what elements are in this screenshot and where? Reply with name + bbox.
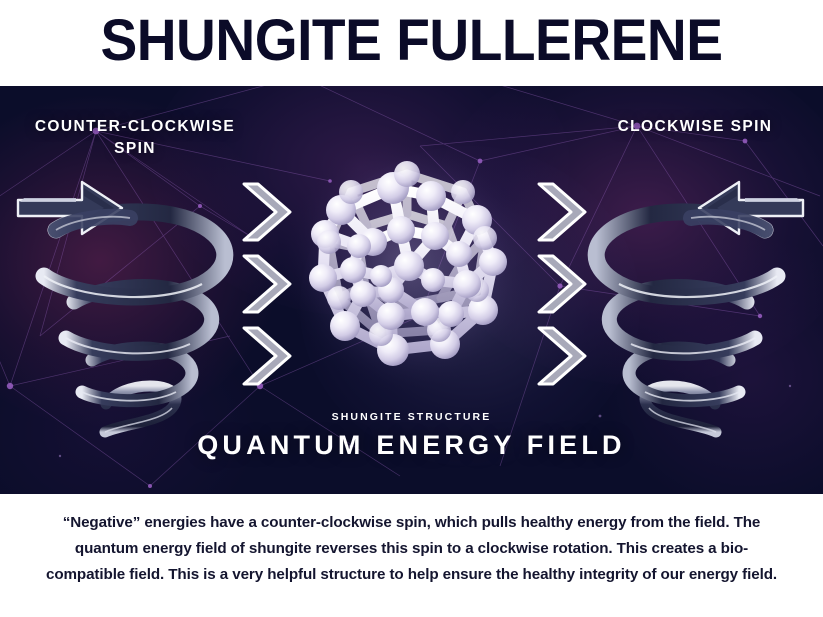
infographic-page: SHUNGITE FULLERENE (0, 0, 823, 617)
fullerene-molecule-graphic (281, 130, 533, 396)
label-clockwise-spin: CLOCKWISE SPIN (570, 116, 820, 138)
label-counter-clockwise-spin-line2: SPIN (10, 138, 260, 160)
caption-text: “Negative” energies have a counter-clock… (0, 494, 823, 588)
diagram-band: COUNTER-CLOCKWISE SPIN CLOCKWISE SPIN SH… (0, 86, 823, 494)
label-shungite-structure: SHUNGITE STRUCTURE (0, 411, 823, 423)
title-bar: SHUNGITE FULLERENE (0, 0, 823, 86)
caption-block: “Negative” energies have a counter-clock… (0, 494, 823, 617)
chevron-right-icon (539, 184, 585, 240)
label-counter-clockwise-spin: COUNTER-CLOCKWISE SPIN (10, 116, 260, 160)
page-title: SHUNGITE FULLERENE (21, 8, 803, 74)
chevron-right-icon (539, 256, 585, 312)
label-counter-clockwise-spin-line1: COUNTER-CLOCKWISE (10, 116, 260, 138)
chevron-right-icon (539, 328, 585, 384)
label-quantum-energy-field: QUANTUM ENERGY FIELD (0, 430, 823, 461)
